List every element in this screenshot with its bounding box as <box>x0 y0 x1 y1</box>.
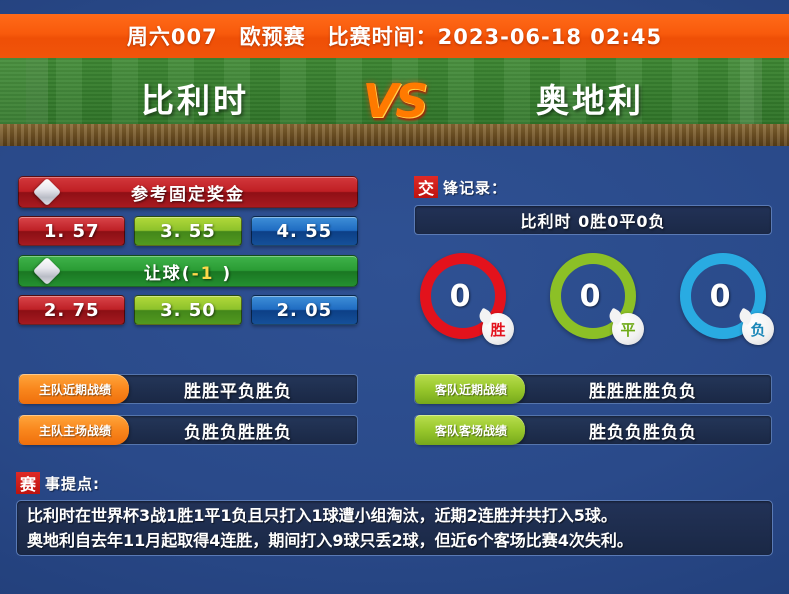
fixed-odd-draw[interactable]: 3. 55 <box>134 216 241 246</box>
fixed-odds-row: 1. 57 3. 55 4. 55 <box>18 216 358 246</box>
handicap-title-prefix: 让球( <box>144 264 192 284</box>
away-away-form-value: 胜负负胜负负 <box>515 418 771 443</box>
away-away-form-tab: 客队客场战绩 <box>415 415 525 445</box>
away-recent-form-value: 胜胜胜胜负负 <box>515 377 771 402</box>
h2h-caption-text: 锋记录： <box>443 177 507 198</box>
head-to-head-panel: 交 锋记录： 比利时 0胜0平0负 0 胜 0 平 0 <box>414 176 772 339</box>
home-recent-form-row: 主队近期战绩 胜胜平负胜负 <box>18 374 358 404</box>
away-recent-form-tab: 客队近期战绩 <box>415 374 525 404</box>
odds-panel: 参考固定奖金 1. 57 3. 55 4. 55 让球(-1 ) 2. 75 3… <box>18 176 358 325</box>
analysis-caption-text: 事提点: <box>45 473 100 494</box>
ring-value: 0 <box>450 279 471 314</box>
analysis-line-1: 比利时在世界杯3战1胜1平1负且只打入1球遭小组淘汰，近期2连胜并共打入5球。 <box>27 503 762 528</box>
header-bar: 周六007 欧预赛 比赛时间：2023-06-18 02:45 <box>0 14 789 58</box>
home-recent-form-tab: 主队近期战绩 <box>19 374 129 404</box>
fixed-odds-title-bar: 参考固定奖金 <box>18 176 358 208</box>
home-home-form-value: 负胜负胜胜负 <box>119 418 357 443</box>
home-recent-form-value: 胜胜平负胜负 <box>119 377 357 402</box>
analysis-caption-mark: 赛 <box>16 472 40 494</box>
home-team-name: 比利时 <box>45 74 345 122</box>
fixed-odd-home[interactable]: 1. 57 <box>18 216 125 246</box>
handicap-odd-away[interactable]: 2. 05 <box>251 295 358 325</box>
ring-value: 0 <box>580 279 601 314</box>
fixed-odds-title: 参考固定奖金 <box>131 180 245 205</box>
away-away-form-row: 客队客场战绩 胜负负胜负负 <box>414 415 772 445</box>
home-home-form-row: 主队主场战绩 负胜负胜胜负 <box>18 415 358 445</box>
handicap-title-suffix: ) <box>214 264 232 284</box>
away-recent-form-row: 客队近期战绩 胜胜胜胜负负 <box>414 374 772 404</box>
away-team-name: 奥地利 <box>440 74 740 122</box>
handicap-title: 让球(-1 ) <box>144 259 232 284</box>
home-form-section: 主队近期战绩 胜胜平负胜负 主队主场战绩 负胜负胜胜负 <box>18 374 358 456</box>
handicap-value: -1 <box>192 264 215 284</box>
ring-value: 0 <box>710 279 731 314</box>
diamond-icon <box>33 257 61 285</box>
vs-icon: VS <box>358 62 430 140</box>
ring-badge-draw: 平 <box>612 313 644 345</box>
handicap-title-bar: 让球(-1 ) <box>18 255 358 287</box>
analysis-line-2: 奥地利自去年11月起取得4连胜，期间打入9球只丢2球，但近6个客场比赛4次失利。 <box>27 528 762 553</box>
h2h-summary-text: 比利时 0胜0平0负 <box>521 208 666 232</box>
ring-badge-win: 胜 <box>482 313 514 345</box>
h2h-rings: 0 胜 0 平 0 负 <box>414 253 772 339</box>
h2h-ring-loss: 0 负 <box>680 253 766 339</box>
handicap-odds-row: 2. 75 3. 50 2. 05 <box>18 295 358 325</box>
match-preview-page: 周六007 欧预赛 比赛时间：2023-06-18 02:45 比利时 VS 奥… <box>0 0 789 594</box>
header-title: 周六007 欧预赛 比赛时间：2023-06-18 02:45 <box>127 21 662 51</box>
h2h-ring-draw: 0 平 <box>550 253 636 339</box>
away-form-section: 客队近期战绩 胜胜胜胜负负 客队客场战绩 胜负负胜负负 <box>414 374 772 456</box>
handicap-odd-draw[interactable]: 3. 50 <box>134 295 241 325</box>
ring-badge-loss: 负 <box>742 313 774 345</box>
h2h-summary-bar: 比利时 0胜0平0负 <box>414 205 772 235</box>
handicap-odd-home[interactable]: 2. 75 <box>18 295 125 325</box>
fixed-odd-away[interactable]: 4. 55 <box>251 216 358 246</box>
h2h-caption: 交 锋记录： <box>414 176 772 198</box>
h2h-ring-win: 0 胜 <box>420 253 506 339</box>
analysis-box: 比利时在世界杯3战1胜1平1负且只打入1球遭小组淘汰，近期2连胜并共打入5球。 … <box>16 500 773 556</box>
diamond-icon <box>33 178 61 206</box>
analysis-caption: 赛 事提点: <box>16 472 100 494</box>
h2h-caption-mark: 交 <box>414 176 438 198</box>
home-home-form-tab: 主队主场战绩 <box>19 415 129 445</box>
